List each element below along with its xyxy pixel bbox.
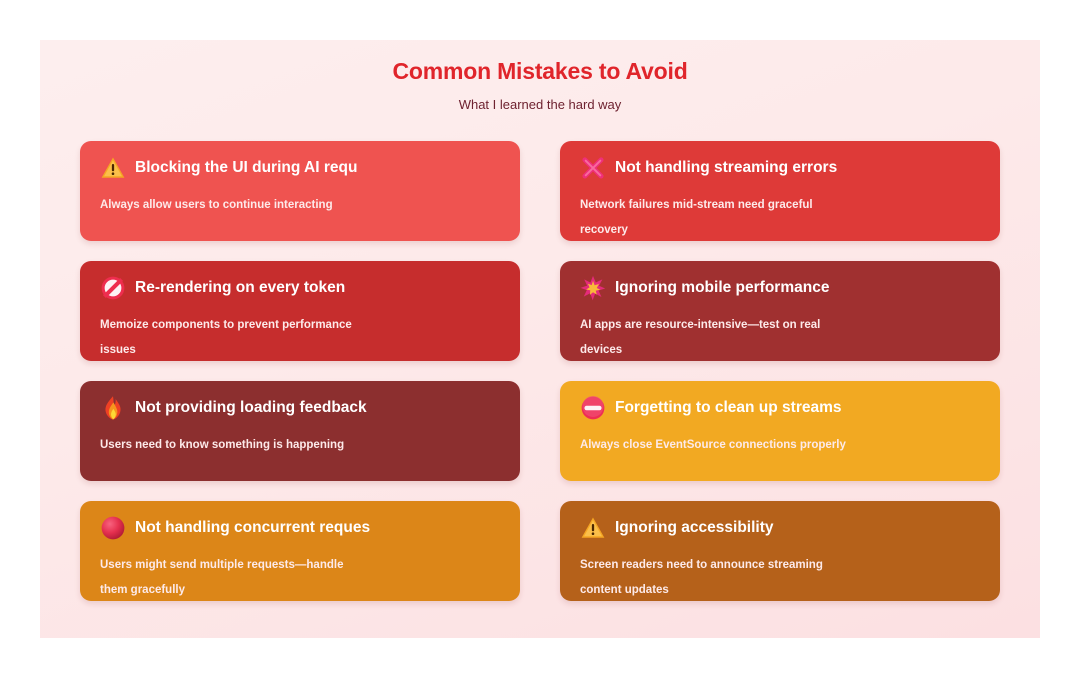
- warning-triangle-icon: [100, 155, 126, 181]
- page-title: Common Mistakes to Avoid: [40, 58, 1040, 85]
- mistake-card-header: Not providing loading feedback: [100, 394, 500, 422]
- mistake-card[interactable]: Blocking the UI during AI requAlways all…: [80, 141, 520, 241]
- mistake-card[interactable]: Not handling concurrent requesUsers migh…: [80, 501, 520, 601]
- mistake-card[interactable]: Not providing loading feedbackUsers need…: [80, 381, 520, 481]
- mistake-card-description: Network failures mid-stream need gracefu…: [580, 193, 838, 241]
- mistake-card-header: Not handling streaming errors: [580, 154, 980, 182]
- red-circle-icon: [100, 515, 126, 541]
- mistake-card-description: Users need to know something is happenin…: [100, 433, 500, 458]
- slide-panel: Common Mistakes to Avoid What I learned …: [40, 40, 1040, 638]
- collision-burst-icon: [580, 275, 606, 301]
- mistake-card-description: Screen readers need to announce streamin…: [580, 553, 838, 601]
- page-subtitle: What I learned the hard way: [40, 97, 1040, 112]
- mistake-card-title: Blocking the UI during AI requ: [135, 155, 357, 181]
- mistake-card-title: Ignoring accessibility: [615, 515, 774, 541]
- mistake-card-header: Re-rendering on every token: [100, 274, 500, 302]
- mistake-card-description: Always allow users to continue interacti…: [100, 193, 500, 218]
- mistake-card-header: Forgetting to clean up streams: [580, 394, 980, 422]
- mistake-card-title: Re-rendering on every token: [135, 275, 345, 301]
- mistake-card-title: Ignoring mobile performance: [615, 275, 829, 301]
- prohibited-icon: [100, 275, 126, 301]
- mistake-card-description: Users might send multiple requests—handl…: [100, 553, 358, 601]
- mistake-card[interactable]: Forgetting to clean up streamsAlways clo…: [560, 381, 1000, 481]
- mistake-card-description: Memoize components to prevent performanc…: [100, 313, 358, 361]
- mistakes-grid: Blocking the UI during AI requAlways all…: [80, 141, 1000, 601]
- slide-header: Common Mistakes to Avoid What I learned …: [40, 40, 1040, 112]
- mistake-card-header: Blocking the UI during AI requ: [100, 154, 500, 182]
- cross-mark-icon: [580, 155, 606, 181]
- mistake-card[interactable]: Re-rendering on every tokenMemoize compo…: [80, 261, 520, 361]
- mistake-card-header: Ignoring mobile performance: [580, 274, 980, 302]
- fire-icon: [100, 395, 126, 421]
- mistake-card[interactable]: Ignoring mobile performanceAI apps are r…: [560, 261, 1000, 361]
- mistake-card-title: Not handling concurrent reques: [135, 515, 370, 541]
- warning-triangle-icon: [580, 515, 606, 541]
- mistake-card-title: Forgetting to clean up streams: [615, 395, 842, 421]
- mistake-card[interactable]: Not handling streaming errorsNetwork fai…: [560, 141, 1000, 241]
- no-entry-icon: [580, 395, 606, 421]
- mistake-card-header: Not handling concurrent reques: [100, 514, 500, 542]
- mistake-card-description: AI apps are resource-intensive—test on r…: [580, 313, 838, 361]
- mistake-card-title: Not handling streaming errors: [615, 155, 837, 181]
- mistake-card-description: Always close EventSource connections pro…: [580, 433, 980, 458]
- mistake-card-header: Ignoring accessibility: [580, 514, 980, 542]
- mistake-card[interactable]: Ignoring accessibilityScreen readers nee…: [560, 501, 1000, 601]
- mistake-card-title: Not providing loading feedback: [135, 395, 367, 421]
